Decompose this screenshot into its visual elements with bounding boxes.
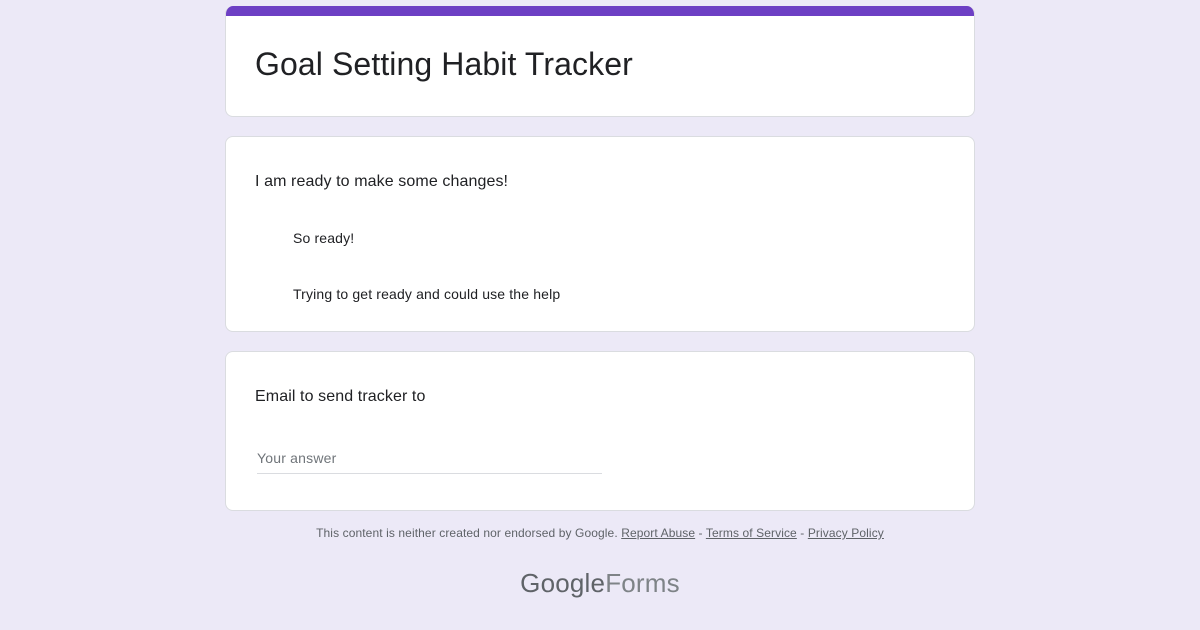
brand-forms-text: Forms — [605, 568, 680, 598]
terms-of-service-link[interactable]: Terms of Service — [706, 526, 797, 540]
question-title-1: I am ready to make some changes! — [255, 161, 945, 194]
form-header-body: Goal Setting Habit Tracker — [226, 16, 974, 116]
question-card-1: I am ready to make some changes! So read… — [225, 136, 975, 332]
question-title-2: Email to send tracker to — [255, 376, 945, 409]
footer-separator: - — [797, 526, 808, 540]
form-theme-stripe — [226, 6, 974, 16]
answer-input[interactable] — [257, 450, 602, 474]
answer-area — [255, 450, 945, 474]
option-item-trying-to-get-ready[interactable]: Trying to get ready and could use the he… — [255, 282, 945, 306]
form-header-card: Goal Setting Habit Tracker — [225, 6, 975, 117]
footer-separator: - — [695, 526, 706, 540]
brand-google-text: Google — [520, 568, 605, 598]
google-form-container: Goal Setting Habit Tracker I am ready to… — [225, 0, 975, 598]
option-label: Trying to get ready and could use the he… — [293, 284, 560, 304]
privacy-policy-link[interactable]: Privacy Policy — [808, 526, 884, 540]
question-card-2: Email to send tracker to — [225, 351, 975, 511]
form-title: Goal Setting Habit Tracker — [255, 45, 633, 87]
google-forms-logo: GoogleForms — [225, 568, 975, 598]
disclaimer-text: This content is neither created nor endo… — [316, 526, 621, 540]
report-abuse-link[interactable]: Report Abuse — [621, 526, 695, 540]
option-label: So ready! — [293, 228, 354, 248]
option-list-1: So ready! Trying to get ready and could … — [255, 226, 945, 306]
footer-disclaimer: This content is neither created nor endo… — [225, 525, 975, 541]
option-item-so-ready[interactable]: So ready! — [255, 226, 945, 250]
form-footer: This content is neither created nor endo… — [225, 511, 975, 598]
